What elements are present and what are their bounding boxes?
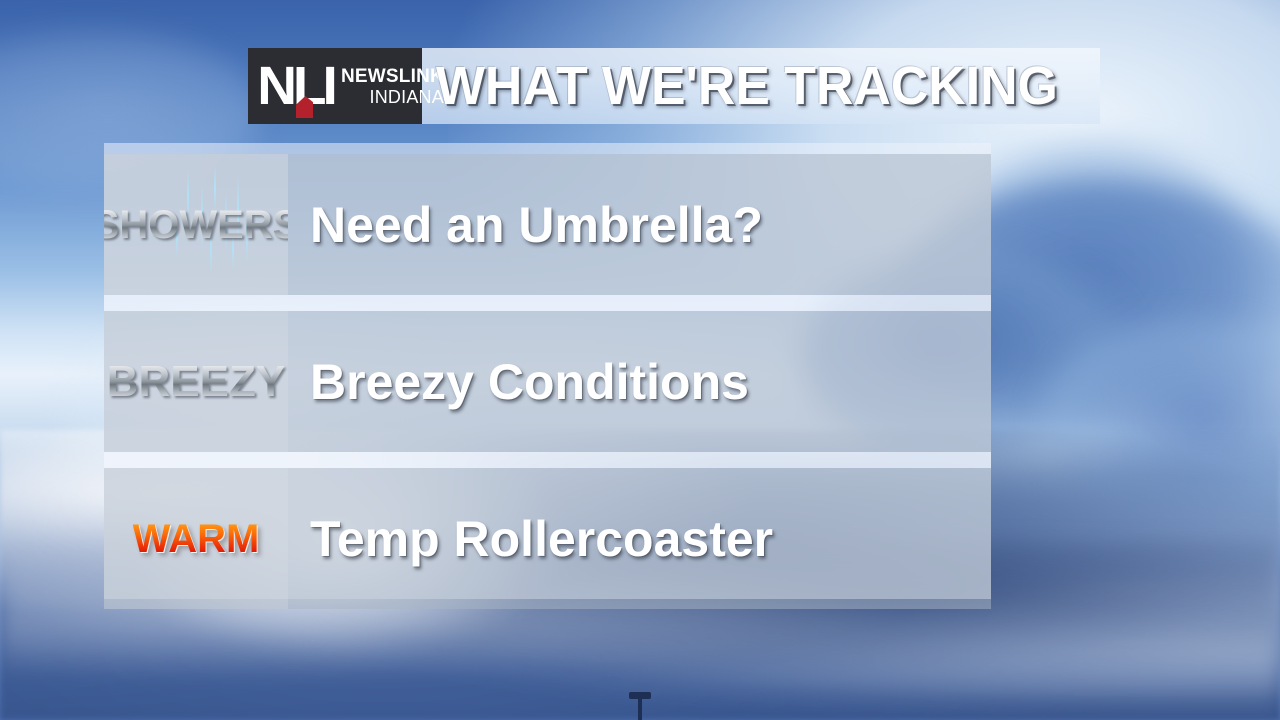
- row-separator: [104, 295, 991, 311]
- page-title: WHAT WE'RE TRACKING: [436, 58, 1058, 114]
- breezy-icon: BREEZY: [107, 358, 285, 406]
- header-bar: NLI NEWSLINK INDIANA WHAT WE'RE TRACKING: [248, 48, 1100, 124]
- row-headline: Breezy Conditions: [310, 355, 749, 409]
- showers-icon: SHOWERS: [104, 203, 288, 247]
- tracking-row: WARM Temp Rollercoaster: [104, 468, 991, 609]
- weather-icon-cell-warm: WARM: [104, 468, 288, 609]
- headline-cell: Need an Umbrella?: [288, 154, 991, 295]
- warm-icon-label: WARM: [133, 517, 260, 561]
- logo-indiana-text: INDIANA: [341, 87, 444, 107]
- row-separator: [104, 452, 991, 468]
- headline-cell: Breezy Conditions: [288, 311, 991, 452]
- logo-wordmark: NEWSLINK INDIANA: [337, 66, 444, 107]
- showers-icon-label: SHOWERS: [104, 203, 288, 247]
- tracking-row: BREEZY Breezy Conditions: [104, 311, 991, 452]
- weather-icon-cell-breezy: BREEZY: [104, 311, 288, 452]
- headline-cell: Temp Rollercoaster: [288, 468, 991, 609]
- warm-icon: WARM: [133, 517, 260, 561]
- light-pole-silhouette: [638, 696, 642, 720]
- weather-icon-cell-showers: SHOWERS: [104, 154, 288, 295]
- logo-newslink-text: NEWSLINK: [341, 66, 444, 87]
- breezy-icon-label: BREEZY: [107, 357, 285, 406]
- row-headline: Temp Rollercoaster: [310, 512, 773, 566]
- row-headline: Need an Umbrella?: [310, 198, 763, 252]
- tracking-row: SHOWERS Need an Umbrella?: [104, 154, 991, 295]
- title-banner: WHAT WE'RE TRACKING: [422, 48, 1100, 124]
- station-logo: NLI NEWSLINK INDIANA: [248, 48, 422, 124]
- tracking-panel: SHOWERS Need an Umbrella? BREEZY Breezy …: [104, 143, 991, 599]
